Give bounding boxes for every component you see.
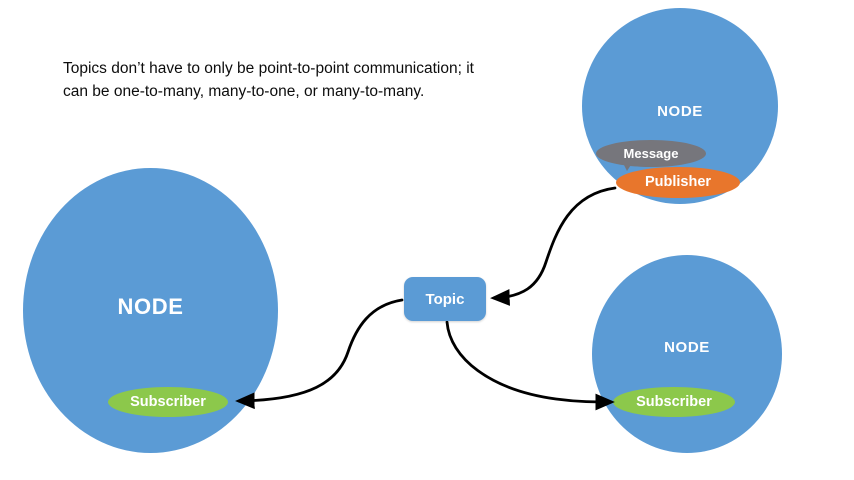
- message-label: Message: [624, 146, 679, 161]
- diagram-canvas: Topics don’t have to only be point-to-po…: [0, 0, 854, 480]
- subscriber-bottom-right[interactable]: Subscriber: [613, 387, 735, 417]
- node-top-right-label: NODE: [582, 103, 778, 120]
- publisher-label: Publisher: [645, 174, 711, 190]
- node-left-label: NODE: [23, 294, 278, 320]
- node-bottom-right-label: NODE: [592, 339, 782, 356]
- arrow-topic-to-bottom-right-subscriber: [447, 322, 611, 402]
- subscriber-bottom-right-label: Subscriber: [636, 394, 712, 410]
- subscriber-left-label: Subscriber: [130, 394, 206, 410]
- caption-text: Topics don’t have to only be point-to-po…: [63, 58, 493, 104]
- subscriber-left[interactable]: Subscriber: [108, 387, 228, 417]
- message-bubble[interactable]: Message: [596, 140, 706, 167]
- topic-box[interactable]: Topic: [404, 277, 486, 321]
- arrow-publisher-to-topic: [494, 188, 615, 298]
- topic-label: Topic: [426, 291, 465, 308]
- publisher-top-right[interactable]: Publisher: [616, 167, 740, 198]
